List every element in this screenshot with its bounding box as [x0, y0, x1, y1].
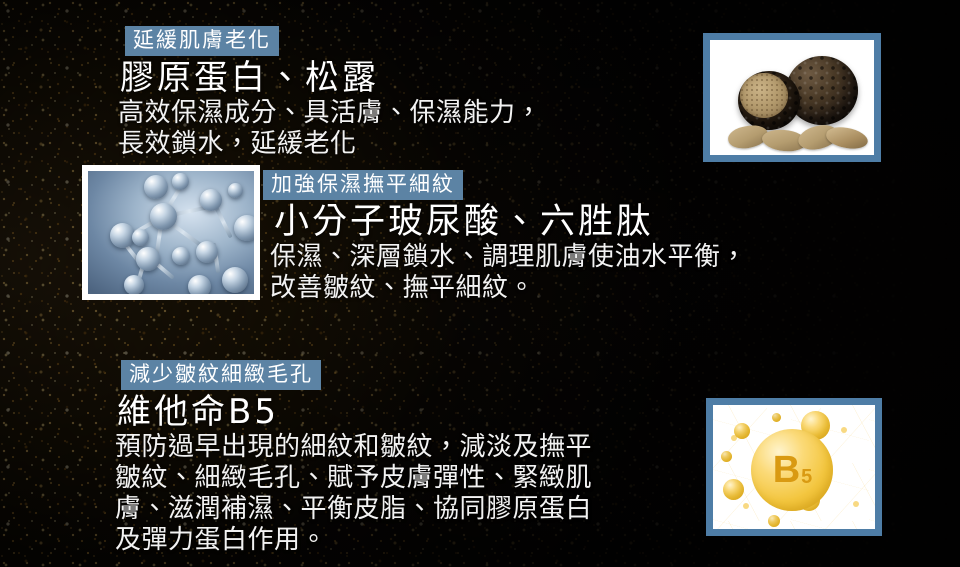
section-collagen-body: 高效保濕成分、具活膚、保濕能力， 長效鎖水，延緩老化: [118, 98, 542, 160]
vitamin-b5-label: B5: [751, 429, 833, 511]
molecule-atom-icon: [132, 229, 149, 246]
section-vitamin-b5-body: 預防過早出現的細紋和皺紋，減淡及撫平 皺紋、細緻毛孔、賦予皮膚彈性、緊緻肌 膚、…: [115, 432, 592, 556]
section-collagen-badge: 延緩肌膚老化: [125, 26, 279, 56]
section-hyaluronic-acid-body: 保濕、深層鎖水、調理肌膚使油水平衡， 改善皺紋、撫平細紋。: [270, 242, 747, 304]
truffle-flesh-icon: [740, 73, 788, 118]
droplet-icon: [723, 479, 744, 500]
molecule-atom-icon: [228, 183, 243, 198]
section-collagen-headline: 膠原蛋白、松露: [120, 58, 542, 98]
section-hyaluronic-acid-headline: 小分子玻尿酸、六胜肽: [274, 202, 747, 242]
droplet-icon: [721, 451, 732, 462]
molecule-atom-icon: [172, 247, 190, 265]
molecule-atom-icon: [222, 267, 248, 293]
droplet-icon: [772, 413, 781, 422]
body-line: 膚、滋潤補濕、平衡皮脂、協同膠原蛋白: [115, 494, 592, 525]
molecule-atom-icon: [188, 275, 211, 294]
body-line: 長效鎖水，延緩老化: [118, 129, 542, 160]
molecule-photo: [88, 171, 254, 294]
vitamin-b5-photo-frame: B5: [706, 398, 882, 536]
section-hyaluronic-acid: 加強保濕撫平細紋 小分子玻尿酸、六胜肽 保濕、深層鎖水、調理肌膚使油水平衡， 改…: [256, 170, 747, 304]
vitamin-b5-label-main: B: [773, 449, 800, 492]
network-node-icon: [743, 503, 749, 509]
body-line: 皺紋、細緻毛孔、賦予皮膚彈性、緊緻肌: [115, 463, 592, 494]
network-node-icon: [841, 427, 847, 433]
infographic-poster: 延緩肌膚老化 膠原蛋白、松露 高效保濕成分、具活膚、保濕能力， 長效鎖水，延緩老…: [0, 0, 960, 567]
molecule-atom-icon: [196, 241, 218, 263]
truffle-photo: [710, 40, 874, 155]
molecule-atom-icon: [172, 173, 189, 190]
section-vitamin-b5-headline: 維他命B5: [117, 392, 592, 432]
droplet-icon: [768, 515, 780, 527]
section-collagen: 延緩肌膚老化 膠原蛋白、松露 高效保濕成分、具活膚、保濕能力， 長效鎖水，延緩老…: [118, 26, 542, 160]
molecule-atom-icon: [150, 203, 177, 230]
molecule-atom-icon: [124, 275, 144, 294]
molecule-atom-icon: [144, 175, 168, 199]
droplet-icon: [734, 423, 750, 439]
body-line: 高效保濕成分、具活膚、保濕能力，: [118, 98, 542, 129]
molecule-atom-icon: [234, 215, 254, 241]
network-node-icon: [853, 501, 859, 507]
molecule-atom-icon: [136, 247, 160, 271]
truffle-photo-frame: [703, 33, 881, 162]
section-vitamin-b5: 減少皺紋細緻毛孔 維他命B5 預防過早出現的細紋和皺紋，減淡及撫平 皺紋、細緻毛…: [115, 360, 592, 556]
body-line: 保濕、深層鎖水、調理肌膚使油水平衡，: [270, 242, 747, 273]
vitamin-b5-photo: B5: [713, 405, 875, 529]
section-vitamin-b5-badge: 減少皺紋細緻毛孔: [121, 360, 321, 390]
body-line: 改善皺紋、撫平細紋。: [270, 273, 747, 304]
vitamin-b5-label-sub: 5: [801, 466, 812, 489]
body-line: 預防過早出現的細紋和皺紋，減淡及撫平: [115, 432, 592, 463]
body-line: 及彈力蛋白作用。: [115, 525, 592, 556]
section-hyaluronic-acid-badge: 加強保濕撫平細紋: [263, 170, 463, 200]
molecule-photo-frame: [82, 165, 260, 300]
molecule-atom-icon: [200, 189, 222, 211]
